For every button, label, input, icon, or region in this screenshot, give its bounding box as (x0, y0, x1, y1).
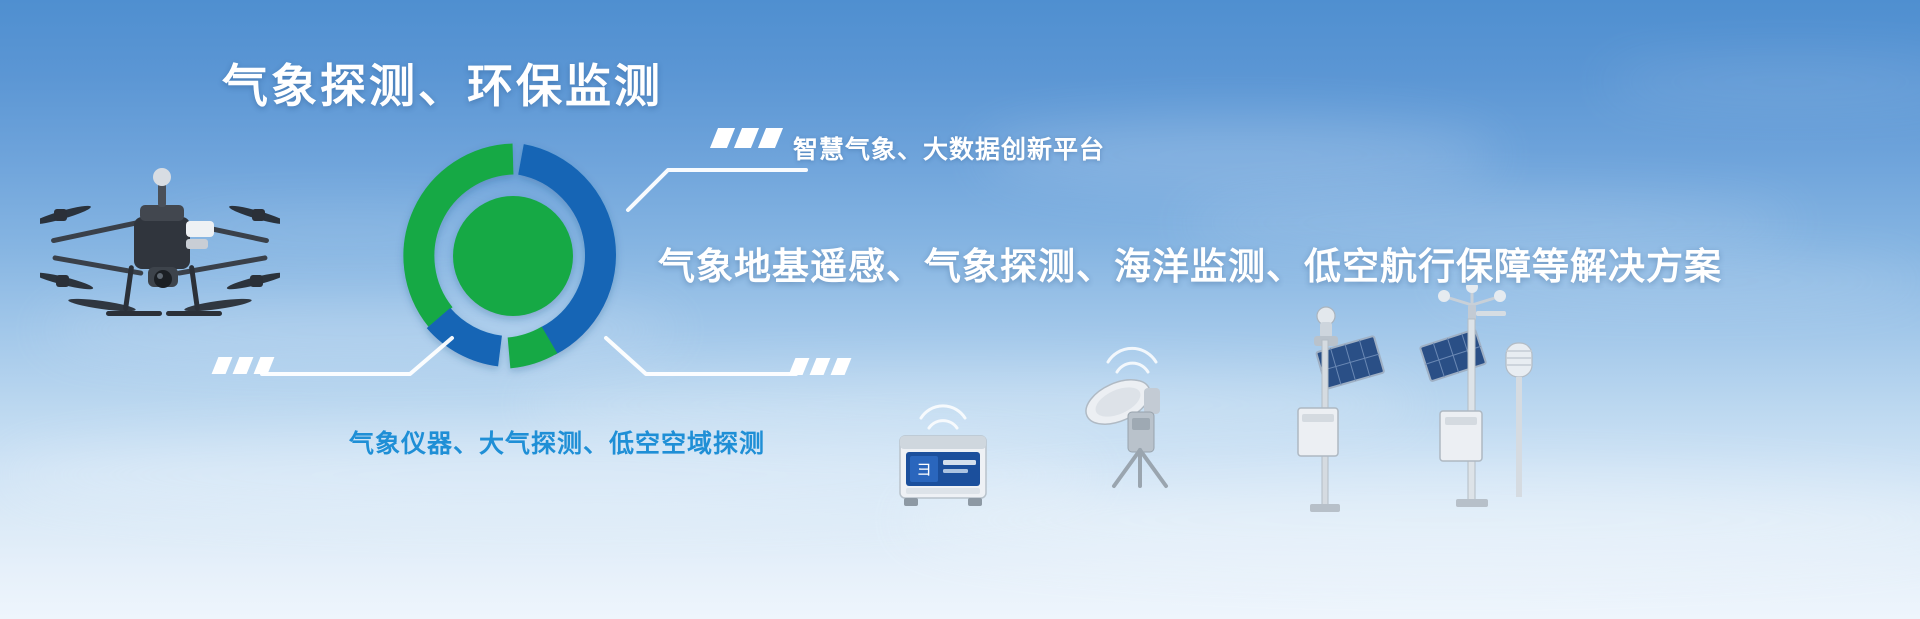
donut-ring-graphic (388, 131, 638, 381)
callout-smart-meteorology: 智慧气象、大数据创新平台 (793, 130, 1105, 166)
connector-line-top (620, 140, 810, 215)
callout-solutions: 气象地基遥感、气象探测、海洋监测、低空航行保障等解决方案 (658, 236, 1722, 290)
page-title: 气象探测、环保监测 (222, 50, 663, 116)
svg-text:ヨ: ヨ (916, 460, 932, 479)
callout-instruments: 气象仪器、大气探测、低空空域探测 (349, 424, 765, 460)
anemometer-station-icon (1410, 285, 1540, 515)
banner-hero: 气象探测、环保监测 (0, 0, 1920, 619)
ring-segment-green-bottom (509, 340, 550, 353)
ring-segment-blue-bottom-left (439, 318, 501, 351)
cloud-wisp (1600, 60, 1920, 104)
solar-weather-station-icon (1280, 300, 1400, 515)
lidar-unit-icon: ヨ (888, 380, 998, 510)
drone-icon (40, 155, 280, 345)
dash-marker-bottom-right (792, 358, 848, 375)
radar-dish-icon (1070, 340, 1200, 490)
dash-marker-top (714, 128, 779, 148)
ring-core (453, 196, 573, 316)
dash-marker-bottom-left (215, 357, 271, 374)
